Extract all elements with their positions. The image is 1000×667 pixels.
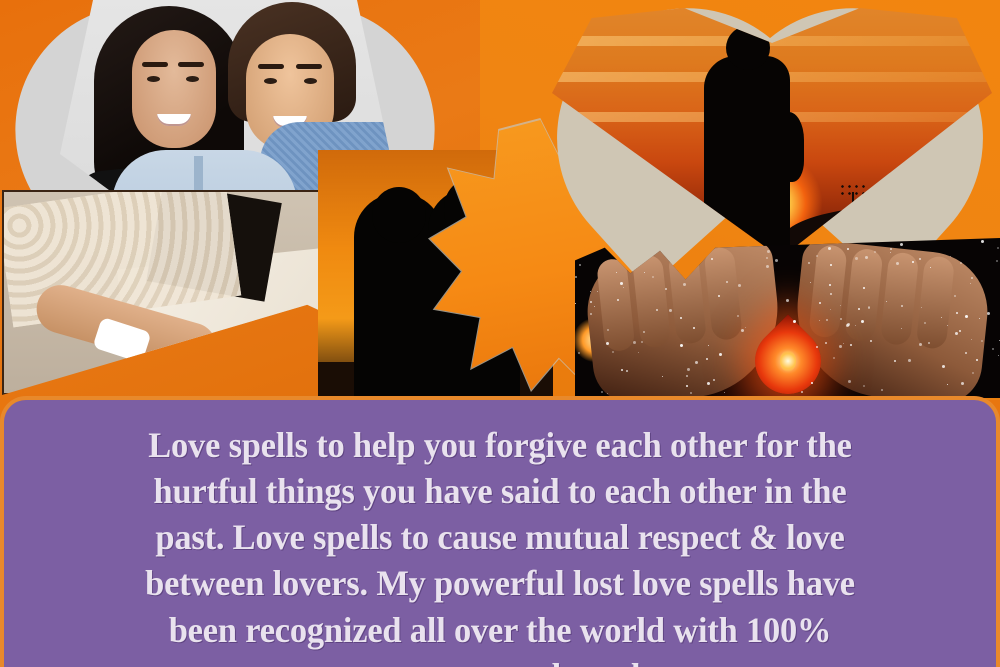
promotional-text: Love spells to help you forgive each oth… xyxy=(44,422,956,667)
promotional-text-line-1: Love spells to help you forgive each oth… xyxy=(44,422,956,468)
sparkle xyxy=(941,317,942,318)
sparkle xyxy=(707,382,710,385)
sparkle xyxy=(594,306,595,307)
sparkle xyxy=(965,352,967,354)
sparkle xyxy=(998,355,999,356)
woman-face xyxy=(132,30,216,148)
sparkle xyxy=(950,256,951,257)
sparkle xyxy=(971,339,972,340)
sparkle xyxy=(890,248,892,250)
sparkle xyxy=(863,287,865,289)
sparkle xyxy=(617,299,619,301)
sparkle xyxy=(612,351,614,353)
sparkle xyxy=(741,329,744,332)
man-brow-left xyxy=(258,64,284,69)
sparkle xyxy=(942,365,945,368)
sparkle xyxy=(719,353,722,356)
sparkle xyxy=(947,325,948,326)
finger-r3 xyxy=(880,251,919,346)
man-eye-right xyxy=(304,78,317,84)
sparkle xyxy=(924,322,926,324)
sparkle xyxy=(971,277,973,279)
man-eye-left xyxy=(264,78,277,84)
sparkle xyxy=(981,240,984,243)
sparkle xyxy=(816,346,818,348)
sparkle xyxy=(861,320,864,323)
woman-smile xyxy=(157,114,191,126)
sparkle xyxy=(601,391,603,393)
photo-collage xyxy=(0,0,1000,400)
promotional-text-line-6: success rate and results. xyxy=(44,653,956,667)
sparkle xyxy=(992,348,994,350)
sparkle xyxy=(828,247,831,250)
sparkle xyxy=(930,267,931,268)
sparkle xyxy=(579,264,581,266)
sparkle xyxy=(724,392,725,393)
sparkle xyxy=(786,299,789,302)
sparkle xyxy=(959,330,961,332)
sparkle xyxy=(607,393,608,394)
sparkle xyxy=(894,360,896,362)
sparkle xyxy=(652,276,654,278)
sparkle xyxy=(597,291,598,292)
sparkle xyxy=(745,327,746,328)
promotional-text-line-5: been recognized all over the world with … xyxy=(44,607,956,653)
sparkle xyxy=(575,303,576,304)
sparkle xyxy=(830,264,832,266)
sparkle xyxy=(643,331,645,333)
finger-r4 xyxy=(916,255,955,350)
sparkle xyxy=(839,345,842,348)
sparkle xyxy=(641,341,643,343)
sparkle xyxy=(997,247,999,249)
sparkle xyxy=(819,320,820,321)
candle-flame xyxy=(780,350,796,372)
promotional-text-line-3: past. Love spells to cause mutual respec… xyxy=(44,514,956,560)
woman-eye-left xyxy=(147,76,160,82)
woman-brow-right xyxy=(178,62,204,67)
sparkle xyxy=(886,301,887,302)
sparkle xyxy=(811,382,813,384)
sparkle xyxy=(590,313,592,315)
finger-r1 xyxy=(808,244,847,339)
sparkle xyxy=(726,281,728,283)
sparkle xyxy=(996,260,998,262)
finger-l4 xyxy=(703,246,742,341)
sparkle xyxy=(607,329,609,331)
love-spells-banner: Love spells to help you forgive each oth… xyxy=(0,0,1000,667)
sparkle xyxy=(578,352,580,354)
finger-r2 xyxy=(844,248,883,343)
sparkle xyxy=(669,309,672,312)
sparkle xyxy=(801,391,803,393)
sparkle xyxy=(633,341,636,344)
sparkle xyxy=(575,276,577,278)
sparkle xyxy=(793,320,796,323)
message-panel: Love spells to help you forgive each oth… xyxy=(0,396,1000,667)
woman-eye-right xyxy=(186,76,199,82)
sparkle xyxy=(680,344,683,347)
sparkle xyxy=(855,257,858,260)
sparkle xyxy=(919,343,922,346)
sparkle xyxy=(686,385,688,387)
promotional-text-line-4: between lovers. My powerful lost love sp… xyxy=(44,560,956,606)
promotional-text-line-2: hurtful things you have said to each oth… xyxy=(44,468,956,514)
sparkle xyxy=(766,265,769,268)
sparkle xyxy=(775,259,778,262)
man-brow-right xyxy=(296,64,322,69)
palm-right xyxy=(789,238,994,398)
sparkle xyxy=(956,312,958,314)
finger-l2 xyxy=(632,254,671,349)
sparkle xyxy=(901,328,902,329)
sparkle xyxy=(976,359,978,361)
sparkle xyxy=(901,305,903,307)
sparkle xyxy=(816,255,818,257)
woman-brow-left xyxy=(142,62,168,67)
sparkle xyxy=(863,385,865,387)
sparkle xyxy=(621,369,623,371)
sparkle xyxy=(711,258,713,260)
sparkle xyxy=(960,262,962,264)
sparkle xyxy=(900,243,903,246)
sparkle xyxy=(908,359,911,362)
sparkle xyxy=(912,261,914,263)
